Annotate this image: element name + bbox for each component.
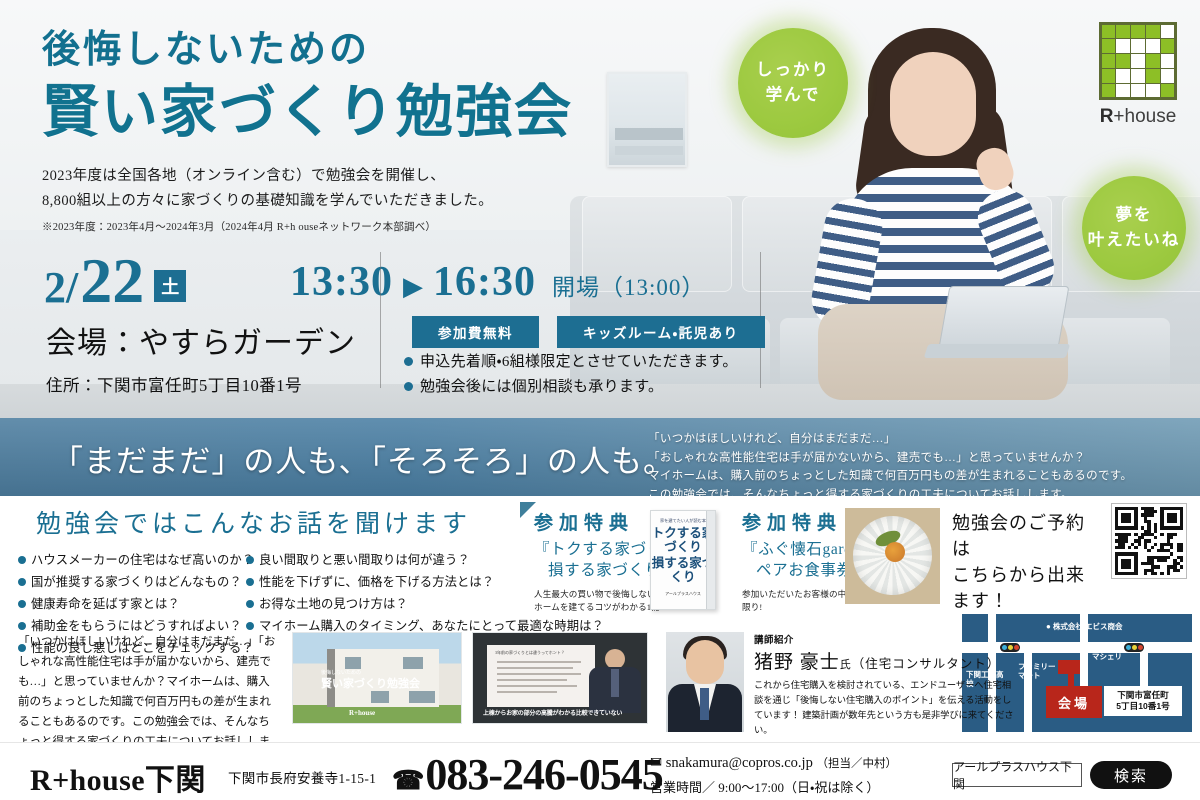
event-time-end: 16:30: [433, 258, 536, 306]
bubble-line: 学んで: [766, 83, 821, 108]
banner-sub-line: マイホームは、購入前のちょっとした知識で何百万円もの差が生まれることもあるのです…: [648, 467, 1132, 486]
green-bubble-dream: 夢を 叶えたいね: [1082, 176, 1186, 280]
speaker-name-line: 猪野 豪士氏（住宅コンサルタント）: [754, 647, 1016, 674]
rhouse-logo-grid-icon: [1099, 22, 1177, 100]
topic-item: 良い間取りと悪い間取りは何が違う？: [246, 550, 508, 572]
search-keyword-box[interactable]: アールプラスハウス下関: [952, 763, 1082, 787]
badge-kids-room: キッズルーム・託児あり: [557, 316, 765, 348]
event-month: 2/: [44, 266, 78, 310]
speaker-honorific: 氏: [840, 659, 852, 671]
banner-sub-line: 「いつかはほしいけれど、自分はまだまだ…」: [648, 430, 1132, 449]
mail-icon: ✉: [650, 755, 662, 771]
lower-section: 「いつかはほしいけれど、自分はまだまだ…」「おしゃれな高性能住宅は手が届かないか…: [0, 630, 1200, 742]
green-bubble-learn: しっかり 学んで: [738, 28, 848, 138]
hero-lead-line1: 2023年度は全国各地（オンライン含む）で勉強会を開催し、: [42, 164, 702, 189]
footer-email: snakamura@copros.co.jp: [666, 755, 813, 771]
hero-lead: 2023年度は全国各地（オンライン含む）で勉強会を開催し、 8,800組以上の方…: [42, 164, 702, 215]
bubble-line: しっかり: [756, 58, 830, 83]
event-bullet-text: 勉強会後には個別相談も承ります。: [420, 375, 663, 400]
speaker-tag: 講師紹介: [754, 632, 1016, 646]
topic-text: 性能を下げずに、価格を下げる方法とは？: [259, 572, 494, 594]
footer-email-line[interactable]: ✉ snakamura@copros.co.jp （担当／中村）: [650, 755, 897, 772]
event-bullet-item: 申込先着順・6組様限定とさせていただきます。: [404, 350, 738, 375]
reservation-line2: こちらから出来ます！: [952, 562, 1102, 614]
topic-item: 健康寿命を延ばす家とは？: [18, 594, 236, 616]
event-day: 22: [80, 252, 144, 310]
reservation-line1: 勉強会のご予約は: [952, 510, 1102, 562]
hero-section: 後悔しないための 賢い家づくり勉強会 2023年度は全国各地（オンライン含む）で…: [0, 0, 1200, 418]
hero-divider-1: [380, 252, 381, 388]
topic-text: 健康寿命を延ばす家とは？: [31, 594, 180, 616]
topic-text: 良い間取りと悪い間取りは何が違う？: [259, 550, 470, 572]
topic-item: ハウスメーカーの住宅はなぜ高いのか？: [18, 550, 236, 572]
event-open-time: 開場（13:00）: [552, 268, 705, 302]
footer-brand: R+house下関: [30, 755, 206, 799]
footer-phone-number: 083-246-0545: [425, 750, 662, 799]
footer: R+house下関 下関市長府安養寺1-15-1 ☎083-246-0545 ✉…: [0, 742, 1200, 800]
photo-house-caption-big: 賢い家づくり勉強会: [321, 675, 420, 691]
photo-house-exterior: 後悔しないための 賢い家づくり勉強会 R+house: [292, 632, 462, 724]
topic-item: お得な土地の見つけ方は？: [246, 594, 508, 616]
event-date: 2/ 22 土: [44, 252, 186, 310]
book-spine-decor: [706, 511, 715, 610]
blue-banner: 「まだまだ」の人も、「そろそろ」の人も。 「いつかはほしいけれど、自分はまだまだ…: [0, 418, 1200, 496]
badge-free-entry: 参加費無料: [412, 316, 539, 348]
time-arrow-icon: ▶: [403, 272, 423, 302]
banner-sub-line: 「おしゃれな高性能住宅は手が届かないから、建売でも…」と思っていませんか？: [648, 449, 1132, 468]
phone-icon: ☎: [392, 766, 423, 795]
speaker-description: これから住宅購入を検討されている、エンドユーザーへ住宅相談を通じ「後悔しない住宅…: [754, 679, 1016, 739]
speaker-name: 猪野 豪士: [754, 652, 840, 673]
seminar-slide-title: 3年前の家づくりとは違うってホント？: [495, 650, 565, 656]
topic-text: 国が推奨する家づくりはどんなもの？: [31, 572, 242, 594]
book-cover-image: 家を建てたい人が読む本 トクする家づくり 損する家づくり アールプラスハウス: [650, 510, 716, 610]
speaker-role: （住宅コンサルタント）: [852, 657, 1001, 671]
banner-subtext: 「いつかはほしいけれど、自分はまだまだ…」 「おしゃれな高性能住宅は手が届かない…: [648, 430, 1132, 496]
footer-phone[interactable]: ☎083-246-0545: [392, 749, 663, 800]
venue-address: 住所：下関市富任町5丁目10番1号: [46, 372, 356, 396]
hero-title-block: 後悔しないための 賢い家づくり勉強会 2023年度は全国各地（オンライン含む）で…: [42, 26, 702, 234]
topic-item: 性能を下げずに、価格を下げる方法とは？: [246, 572, 508, 594]
event-bullets: 申込先着順・6組様限定とさせていただきます。 勉強会後には個別相談も承ります。: [404, 350, 738, 400]
banner-headline: 「まだまだ」の人も、「そろそろ」の人も。: [52, 436, 675, 481]
event-day-of-week: 土: [154, 270, 186, 302]
venue-block: 会場：やすらガーデン 住所：下関市富任町5丁目10番1号: [46, 318, 356, 396]
rhouse-logo-text: R+house: [1092, 106, 1184, 128]
event-bullet-item: 勉強会後には個別相談も承ります。: [404, 375, 738, 400]
hero-title-line1: 後悔しないための: [42, 26, 702, 75]
search-button[interactable]: 検索: [1090, 761, 1172, 789]
hero-note: ※2023年度：2023年4月〜2024年3月（2024年4月 R+h ouse…: [42, 219, 702, 234]
photo-house-logo: R+house: [349, 709, 375, 717]
event-bullet-text: 申込先着順・6組様限定とさせていただきます。: [420, 350, 738, 375]
flyer-page: 後悔しないための 賢い家づくり勉強会 2023年度は全国各地（オンライン含む）で…: [0, 0, 1200, 800]
rhouse-logo: R+house: [1092, 22, 1184, 128]
topic-item: 国が推奨する家づくりはどんなもの？: [18, 572, 236, 594]
event-time-start: 13:30: [290, 258, 393, 306]
photo-seminar-presentation: 3年前の家づくりとは違うってホント？ 上棟からお家の部分の高騰がわかる比較できて…: [472, 632, 648, 724]
event-badges: 参加費無料 キッズルーム・託児あり: [412, 316, 765, 348]
qr-code-icon[interactable]: [1112, 504, 1186, 578]
topics-title: 勉強会ではこんなお話を聞けます: [36, 504, 510, 540]
speaker-photo: [666, 632, 744, 732]
topic-text: ハウスメーカーの住宅はなぜ高いのか？: [31, 550, 254, 572]
hero-lead-line2: 8,800組以上の方々に家づくりの基礎知識を学んでいただきました。: [42, 189, 702, 214]
bubble-line: 叶えたいね: [1088, 228, 1181, 253]
venue-name: 会場：やすらガーデン: [46, 318, 356, 362]
bubble-line: 夢を: [1116, 203, 1153, 228]
banner-sub-line: この勉強会では、そんなちょっと得する家づくりの工夫についてお話しします。: [648, 486, 1132, 496]
hero-title-line2: 賢い家づくり勉強会: [42, 77, 702, 148]
fugu-dish-photo: [845, 508, 940, 604]
event-time: 13:30 ▶ 16:30 開場（13:00）: [290, 258, 705, 306]
laptop-icon: [918, 286, 1068, 364]
footer-address: 下関市長府安養寺1-15-1: [228, 767, 376, 787]
footer-email-note: （担当／中村）: [816, 758, 897, 770]
footer-hours: 営業時間／ 9:00〜17:00（日・祝は除く）: [650, 777, 879, 796]
topic-text: お得な土地の見つけ方は？: [259, 594, 408, 616]
seminar-photo-caption: 上棟からお家の部分の高騰がわかる比較できていない: [483, 708, 622, 717]
